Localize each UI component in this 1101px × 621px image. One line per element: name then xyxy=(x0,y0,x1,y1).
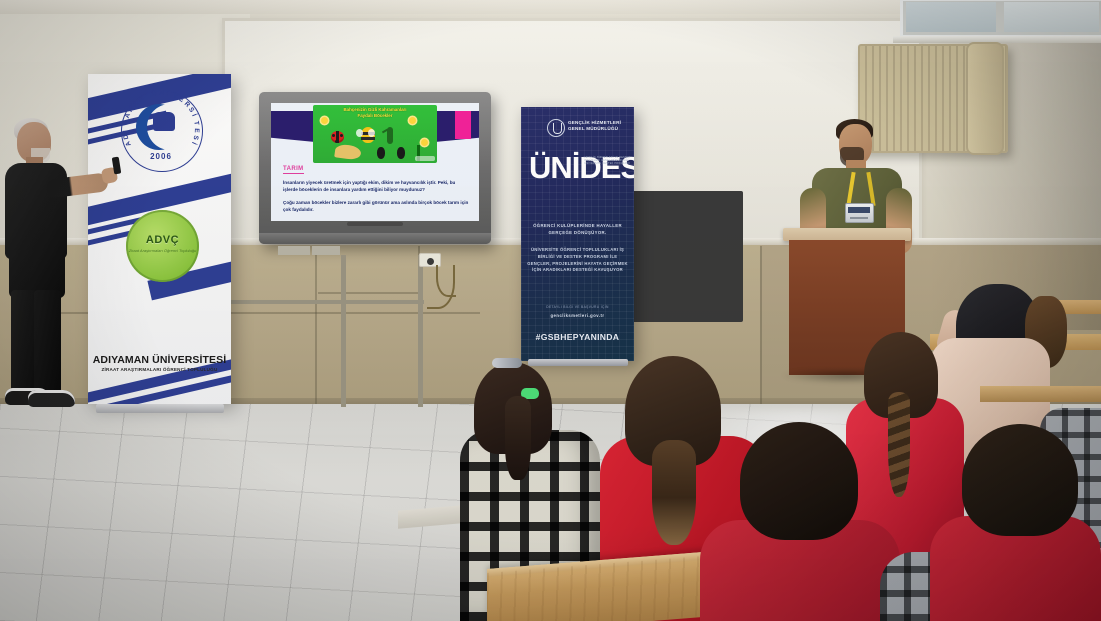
club-seal-acronym: ADVÇ xyxy=(126,234,199,246)
banner-cta-label: DETAYLI BİLGİ VE BAŞVURU İÇİN xyxy=(529,305,626,310)
adiyaman-university-banner: ADIYAMAN ÜNİVERSİTESİ 2006 ADVÇ Ziraat A… xyxy=(88,74,231,404)
insect-graphic-title: Bahçenizin Gizli Kahramanları Faydalı Bö… xyxy=(313,107,437,118)
club-seal-icon xyxy=(126,210,199,282)
presentation-slide: Bahçenizin Gizli Kahramanları Faydalı Bö… xyxy=(271,103,479,221)
seal-arc-char: İ xyxy=(190,141,197,146)
banner-title: ADIYAMAN ÜNİVERSİTESİ xyxy=(88,354,231,366)
window-pane-left xyxy=(906,2,996,32)
ministry-logo-icon xyxy=(547,119,565,137)
banner-body-text: ÜNİVERSİTE ÖĞRENCİ TOPLULUKLARI İŞ BİRLİ… xyxy=(527,247,628,274)
insect-graphic-title-line2: Faydalı Böcekler xyxy=(313,113,437,119)
student-braid xyxy=(888,392,910,497)
university-seal-year: 2006 xyxy=(121,152,201,161)
wordmark-uni: ÜNİ xyxy=(529,150,579,185)
banner-hashtag: #GSBHEPYANINDA xyxy=(525,332,630,342)
seal-arc-char: S xyxy=(192,135,200,141)
radiator-end-cap xyxy=(966,42,1004,155)
slide-paragraph-1: İnsanların yiyecek üretmek için yaptığı … xyxy=(283,179,469,193)
seal-arc-char: İ xyxy=(165,90,168,97)
hair-clip xyxy=(492,358,522,368)
display-lower-bezel xyxy=(259,233,491,244)
student-ponytail xyxy=(652,440,696,545)
insect-graphic: Bahçenizin Gizli Kahramanları Faydalı Bö… xyxy=(313,105,437,163)
beetle-icon xyxy=(397,147,405,159)
display-stand-leg xyxy=(341,255,346,407)
ministry-line-2: GENEL MÜDÜRLÜĞÜ xyxy=(568,126,621,132)
ladybug-icon xyxy=(331,131,344,143)
seal-arc-char: T xyxy=(192,121,200,126)
display-stand-leg xyxy=(418,255,423,407)
flower-icon xyxy=(421,139,428,146)
seal-arc-char: N xyxy=(159,90,164,97)
seal-arc-char: E xyxy=(193,128,200,133)
slide-paragraph-2: Çoğu zaman böcekler bizlere zararlı gibi… xyxy=(283,199,469,213)
wainscot-seam xyxy=(760,246,762,406)
banner-microcopy: GENÇLİK HİZMETLERİ VE DESTEK PROJELERİ G… xyxy=(583,156,631,165)
display-mount-bracket xyxy=(278,246,310,255)
ministry-name: GENÇLİK HİZMETLERİ GENEL MÜDÜRLÜĞÜ xyxy=(568,120,621,133)
wainscot-seam xyxy=(315,246,317,406)
caterpillar-icon xyxy=(334,143,362,160)
seal-arc-char: A xyxy=(124,112,132,119)
banner-headline: ÖĞRENCİ KULÜPLERİNDE HAYALLER GERÇEĞE DÖ… xyxy=(529,222,626,236)
bee-icon xyxy=(361,127,375,143)
flower-icon xyxy=(321,117,328,124)
window-pane-right xyxy=(1004,2,1099,32)
student-ponytail xyxy=(505,396,531,480)
slide-body: İnsanların yiyecek üretmek için yaptığı … xyxy=(283,179,469,219)
banner-subtitle: ZİRAAT ARAŞTIRMALARI ÖĞRENCİ TOPLULUĞU xyxy=(88,367,231,372)
display-mount-bracket xyxy=(312,246,340,255)
seal-arc-char: Ü xyxy=(151,90,157,98)
seal-arc-char: İ xyxy=(190,113,197,117)
club-seal-subtext: Ziraat Araştırmaları Öğrenci Topluluğu xyxy=(126,248,199,253)
id-badge xyxy=(845,203,874,223)
presenter-shoe xyxy=(28,390,75,407)
presenter-leg xyxy=(34,290,61,395)
banner-url: gencliksmetleri.gov.tr xyxy=(529,313,626,318)
wainscot-seam xyxy=(318,292,418,294)
display-speaker-grille xyxy=(347,222,403,226)
seal-arc-char: Y xyxy=(122,120,130,126)
beetle-icon xyxy=(377,147,385,159)
seal-arc-char: A xyxy=(124,140,132,147)
mantis-icon xyxy=(387,127,393,144)
seal-arc-char: I xyxy=(122,130,129,132)
slide-section-label: TARIM xyxy=(283,166,304,174)
seal-arc-char: S xyxy=(187,106,195,113)
display-stand-crossbar xyxy=(224,300,424,304)
bench-right xyxy=(980,386,1101,402)
banner-base-foot xyxy=(528,359,628,366)
flower-icon xyxy=(409,117,416,124)
student-head xyxy=(740,422,858,540)
slide-pink-accent xyxy=(455,111,471,139)
student-head xyxy=(962,424,1078,536)
banner-base-foot xyxy=(96,404,224,413)
photo-scene: Bahçenizin Gizli Kahramanları Faydalı Bö… xyxy=(0,0,1101,621)
unides-banner: GENÇLİK HİZMETLERİ GENEL MÜDÜRLÜĞÜ ÜNİDE… xyxy=(521,107,634,361)
graphic-watermark xyxy=(415,156,435,161)
